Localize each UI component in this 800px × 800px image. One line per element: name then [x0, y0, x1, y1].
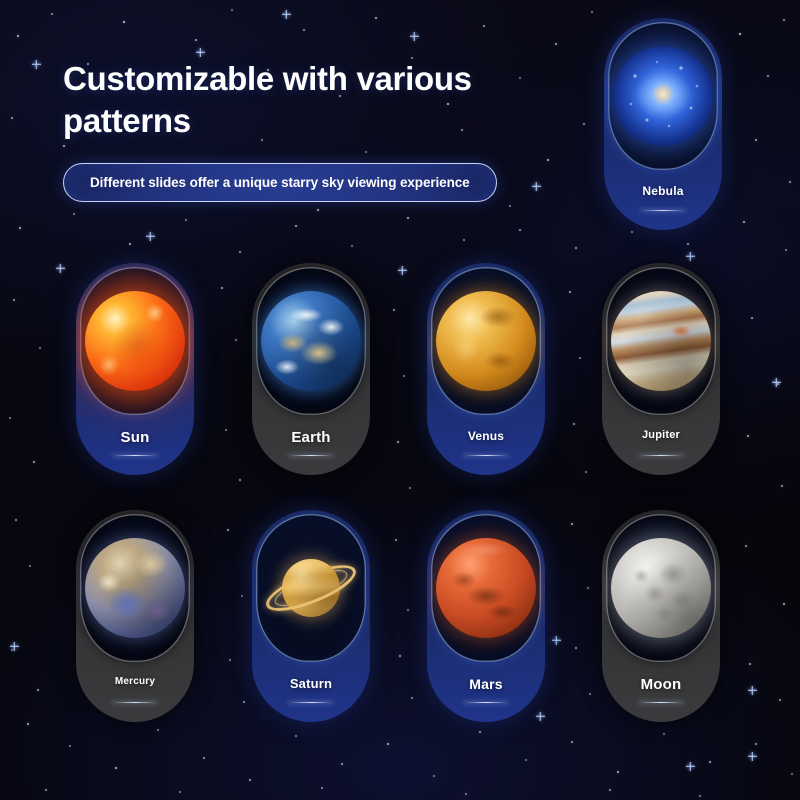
star-dot [317, 209, 320, 212]
star-dot [525, 759, 527, 761]
star-dot [519, 229, 521, 231]
planet-card-venus[interactable]: Venus [427, 263, 545, 475]
card-underline-venus [463, 455, 509, 456]
star-dot [19, 227, 21, 229]
star-dot [403, 375, 405, 377]
planet-disc-mercury [85, 538, 185, 638]
star-dot [407, 217, 410, 220]
star-dot [575, 647, 577, 649]
planet-card-sun[interactable]: Sun [76, 263, 194, 475]
card-label-mercury: Mercury [76, 676, 194, 687]
star-dot [687, 243, 689, 245]
page-title: Customizable with various patterns [63, 58, 533, 142]
star-dot [465, 793, 467, 795]
card-lens-sun [80, 267, 190, 415]
sparkle-star-icon [398, 266, 407, 275]
star-dot [239, 251, 241, 253]
star-dot [11, 649, 13, 651]
star-dot [767, 75, 769, 77]
star-dot [11, 117, 13, 119]
sparkle-star-icon [196, 48, 205, 57]
header: Customizable with various patterns Diffe… [63, 58, 533, 202]
sparkle-star-icon [748, 752, 757, 761]
card-underline-mercury [112, 702, 158, 703]
star-dot [241, 595, 243, 597]
star-dot [789, 181, 791, 183]
star-dot [747, 435, 749, 437]
star-dot [229, 659, 231, 661]
card-underline-saturn [288, 702, 334, 703]
card-lens-nebula [608, 22, 718, 170]
sparkle-star-icon [552, 636, 561, 645]
card-label-moon: Moon [602, 676, 720, 693]
star-dot [387, 743, 390, 746]
star-dot [745, 545, 747, 547]
star-dot [569, 291, 571, 293]
planet-card-earth[interactable]: Earth [252, 263, 370, 475]
star-dot [27, 723, 29, 725]
sparkle-star-icon [686, 762, 695, 771]
star-dot [15, 519, 17, 521]
card-underline-jupiter [638, 455, 684, 456]
star-dot [547, 159, 550, 162]
star-dot [375, 17, 377, 19]
star-dot [783, 603, 786, 606]
sparkle-star-icon [748, 686, 757, 695]
star-dot [249, 779, 251, 781]
planet-disc-mars [436, 538, 536, 638]
sparkle-star-icon [686, 252, 695, 261]
star-dot [433, 775, 435, 777]
star-dot [509, 205, 511, 207]
card-underline-earth [288, 455, 334, 456]
planet-disc-jupiter [611, 291, 711, 391]
celestial-body-mars [436, 538, 536, 638]
star-dot [179, 791, 181, 793]
card-lens-jupiter [606, 267, 716, 415]
star-dot [393, 309, 395, 311]
card-label-jupiter: Jupiter [602, 429, 720, 441]
planet-disc-sun [85, 291, 185, 391]
star-dot [341, 763, 343, 765]
celestial-body-venus [436, 291, 536, 391]
card-underline-nebula [640, 210, 686, 211]
star-dot [617, 771, 620, 774]
card-underline-mars [463, 702, 509, 703]
star-dot [749, 663, 751, 665]
star-dot [157, 729, 159, 731]
sparkle-star-icon [10, 642, 19, 651]
celestial-body-moon [611, 538, 711, 638]
star-dot [243, 701, 245, 703]
star-dot [463, 239, 465, 241]
sparkle-star-icon [772, 378, 781, 387]
star-dot [231, 9, 233, 11]
star-dot [45, 789, 47, 791]
star-dot [755, 743, 757, 745]
subtitle-pill[interactable]: Different slides offer a unique starry s… [63, 163, 497, 202]
star-dot [571, 523, 573, 525]
star-dot [791, 773, 793, 775]
celestial-body-sun [85, 291, 185, 391]
star-dot [395, 539, 397, 541]
star-dot [185, 219, 187, 221]
planet-disc-nebula [613, 46, 713, 146]
star-dot [409, 487, 411, 489]
star-dot [591, 11, 593, 13]
star-dot [303, 29, 305, 31]
card-underline-sun [112, 455, 158, 456]
poster-canvas: Customizable with various patterns Diffe… [0, 0, 800, 800]
card-label-saturn: Saturn [252, 676, 370, 691]
card-label-sun: Sun [76, 429, 194, 446]
star-dot [69, 745, 71, 747]
star-dot [575, 247, 577, 249]
planet-card-mars[interactable]: Mars [427, 510, 545, 722]
card-lens-moon [606, 514, 716, 662]
celestial-body-earth [261, 291, 361, 391]
card-underline-moon [638, 702, 684, 703]
star-dot [37, 689, 39, 691]
star-dot [583, 123, 585, 125]
planet-disc-earth [261, 291, 361, 391]
sparkle-star-icon [56, 264, 65, 273]
star-dot [573, 423, 575, 425]
star-dot [295, 735, 297, 737]
card-label-nebula: Nebula [604, 184, 722, 198]
star-dot [351, 245, 353, 247]
star-dot [115, 767, 118, 770]
star-dot [585, 471, 587, 473]
star-dot [579, 357, 581, 359]
star-dot [743, 221, 746, 224]
celestial-body-mercury [85, 538, 185, 638]
star-dot [195, 39, 197, 41]
planet-card-moon[interactable]: Moon [602, 510, 720, 722]
star-dot [295, 225, 297, 227]
star-dot [631, 231, 633, 233]
star-dot [781, 485, 783, 487]
card-lens-mars [431, 514, 541, 662]
star-dot [227, 529, 229, 531]
saturn-assembly [261, 538, 361, 638]
star-dot [235, 339, 237, 341]
star-dot [755, 139, 757, 141]
star-dot [777, 383, 780, 386]
star-dot [587, 587, 589, 589]
star-dot [479, 731, 481, 733]
star-dot [397, 441, 399, 443]
planet-card-nebula[interactable]: Nebula [604, 18, 722, 230]
sparkle-star-icon [146, 232, 155, 241]
planet-card-mercury[interactable]: Mercury [76, 510, 194, 722]
planet-card-saturn[interactable]: Saturn [252, 510, 370, 722]
star-dot [739, 33, 742, 36]
star-dot [399, 655, 401, 657]
star-dot [589, 693, 591, 695]
star-dot [571, 741, 573, 743]
star-dot [783, 19, 785, 21]
star-dot [17, 35, 20, 38]
star-dot [779, 699, 781, 701]
card-label-venus: Venus [427, 429, 545, 443]
star-dot [73, 213, 75, 215]
celestial-body-nebula [613, 46, 713, 146]
card-label-mars: Mars [427, 676, 545, 692]
star-dot [609, 789, 611, 791]
star-dot [785, 249, 787, 251]
star-dot [221, 287, 223, 289]
star-dot [709, 761, 711, 763]
sparkle-star-icon [536, 712, 545, 721]
star-dot [123, 21, 126, 24]
star-dot [33, 461, 35, 463]
card-label-earth: Earth [252, 429, 370, 446]
card-lens-saturn [256, 514, 366, 662]
card-lens-venus [431, 267, 541, 415]
celestial-body-saturn [261, 538, 361, 638]
star-dot [225, 429, 227, 431]
sparkle-star-icon [32, 60, 41, 69]
star-dot [239, 479, 241, 481]
star-dot [321, 787, 323, 789]
star-dot [9, 417, 11, 419]
star-dot [483, 25, 485, 27]
planet-card-jupiter[interactable]: Jupiter [602, 263, 720, 475]
star-dot [51, 13, 53, 15]
star-dot [699, 795, 701, 797]
star-dot [411, 697, 413, 699]
celestial-body-jupiter [611, 291, 711, 391]
star-dot [39, 347, 41, 349]
planet-disc-moon [611, 538, 711, 638]
sparkle-star-icon [282, 10, 291, 19]
star-dot [129, 243, 132, 246]
star-dot [407, 609, 409, 611]
planet-disc-venus [436, 291, 536, 391]
card-lens-mercury [80, 514, 190, 662]
sparkle-star-icon [410, 32, 419, 41]
star-dot [663, 733, 665, 735]
subtitle-text: Different slides offer a unique starry s… [90, 175, 470, 190]
star-dot [203, 757, 205, 759]
star-dot [13, 299, 15, 301]
star-dot [29, 565, 31, 567]
star-dot [555, 43, 557, 45]
star-dot [751, 317, 753, 319]
card-lens-earth [256, 267, 366, 415]
